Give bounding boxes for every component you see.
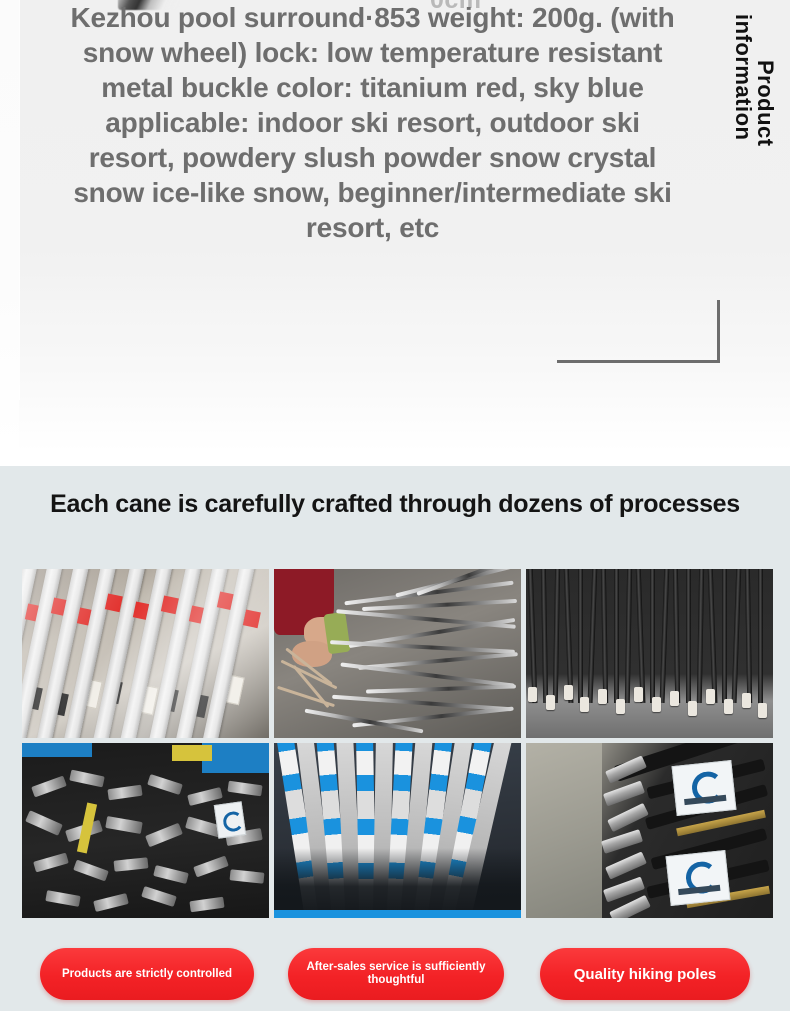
process-heading: Each cane is carefully crafted through d… [0,490,790,519]
product-information-label: Product information [732,14,776,214]
section-divider [0,452,790,466]
product-spec-text: Kezhou pool surround·853 weight: 200g. (… [70,0,675,245]
process-photo-grid [22,569,768,918]
panel-left-stripe [0,0,19,452]
process-photo-3 [526,569,773,738]
product-information-label-line2: information [732,14,754,141]
process-photo-1 [22,569,269,738]
pill-quality-hiking-poles[interactable]: Quality hiking poles [540,948,750,1000]
process-photo-2 [274,569,521,738]
panel-left-hairline [19,0,20,400]
manufacturing-process-panel: Each cane is carefully crafted through d… [0,466,790,1011]
feature-pill-row: Products are strictly controlled After-s… [0,948,790,1004]
process-photo-5 [274,743,521,918]
pill-products-strictly-controlled[interactable]: Products are strictly controlled [40,948,254,1000]
process-photo-6 [526,743,773,918]
product-information-panel: 0cm Kezhou pool surround·853 weight: 200… [0,0,790,452]
process-photo-4 [22,743,269,918]
corner-bracket-decoration [557,300,720,363]
pill-after-sales-service[interactable]: After-sales service is sufficiently thou… [288,948,504,1000]
product-information-label-line1: Product [754,60,776,147]
